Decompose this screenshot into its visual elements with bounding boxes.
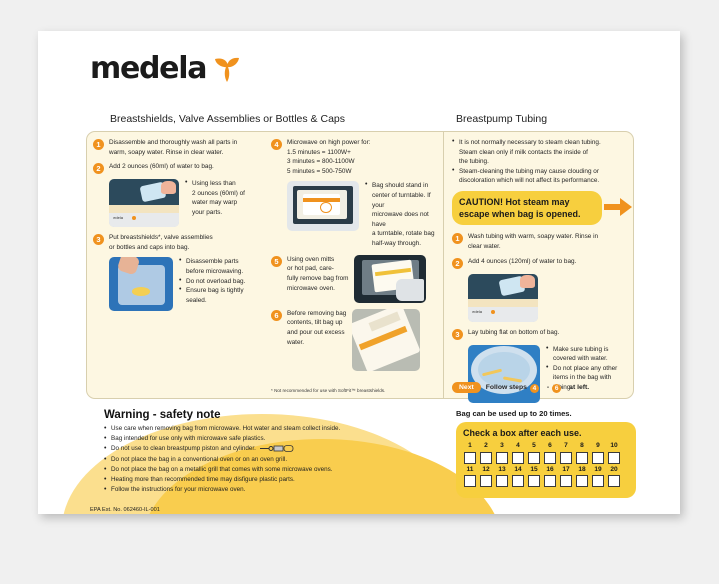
checkbox-7[interactable] [560,452,572,464]
step-6-media: 6 Before removing bag contents, tilt bag… [271,309,439,371]
warning-item: Use care when removing bag from microwav… [104,424,434,434]
checkbox-label: 12 [479,467,493,474]
checkbox-cell-20[interactable]: 20 [607,467,621,488]
step-5-media: 5 Using oven mitts or hot pad, care- ful… [271,255,439,303]
warning-section: Warning - safety note Use care when remo… [104,409,434,495]
bullet: Do not overload bag. [179,277,245,287]
warning-list: Use care when removing bag from microwav… [104,424,434,495]
checkbox-label: 15 [527,467,541,474]
checkbox-cell-18[interactable]: 18 [575,467,589,488]
step-6-text: Before removing bag contents, tilt bag u… [287,309,346,371]
warning-item: Heating more than recommended time may d… [104,475,434,485]
step-3-bullets: Disassemble parts before microwaving. Do… [179,257,245,311]
step-4-media: Bag should stand in center of turntable.… [287,181,439,248]
tubing-step-number-2: 2 [452,258,463,269]
checkbox-20[interactable] [608,475,620,487]
next-step-to: 6 [552,384,561,393]
checkbox-label: 2 [479,443,493,450]
epa-registration-text: EPA Est. No. 062460-IL-001 [90,507,160,513]
checkbox-label: 17 [559,467,573,474]
checkbox-14[interactable] [512,475,524,487]
step-2-media: edela Using less than 2 ounces (60ml) of… [109,179,261,227]
checkbox-cell-9[interactable]: 9 [591,443,605,464]
bullet: Using less than 2 ounces (60ml) of water… [185,179,245,217]
instructions-panel: 1 Disassemble and thoroughly wash all pa… [86,131,634,399]
parts-in-bag-photo [109,257,173,311]
brand-logo: medela [90,51,240,86]
warning-title: Warning - safety note [104,409,434,421]
step-3: 3 Put breastshields*, valve assemblies o… [93,233,261,252]
next-step-from: 4 [530,384,539,393]
checkbox-cell-14[interactable]: 14 [511,467,525,488]
removing-bag-with-mitt-photo [354,255,426,303]
step-2-bullets: Using less than 2 ounces (60ml) of water… [185,179,245,227]
checkbox-3[interactable] [496,452,508,464]
tubing-in-bag-photo [468,345,540,403]
warning-item: Follow the instructions for your microwa… [104,485,434,495]
checkbox-label: 5 [527,443,541,450]
microwave-with-bag-photo [287,181,359,231]
next-steps-row: Next Follow steps 4 - 6 at left. [452,382,589,393]
tubing-step-1-text: Wash tubing with warm, soapy water. Rins… [468,232,598,251]
checkbox-label: 10 [607,443,621,450]
checkbox-cell-10[interactable]: 10 [607,443,621,464]
warning-item: Do not use to clean breastpump piston an… [104,444,434,454]
water-pouring-into-bag-photo: edela [109,179,179,227]
step-4: 4 Microwave on high power for: 1.5 minut… [271,138,439,176]
checkbox-label: 6 [543,443,557,450]
step-number-5: 5 [271,256,282,267]
usage-tracker-section: Bag can be used up to 20 times. Check a … [456,409,636,498]
checkbox-instruction: Check a box after each use. [463,428,629,438]
step-number-2: 2 [93,163,104,174]
tubing-step-3-media: Make sure tubing is covered with water. … [468,345,626,403]
warning-item: Bag intended for use only with microwave… [104,434,434,444]
steps-column-1: 1 Disassemble and thoroughly wash all pa… [87,132,265,398]
next-pill: Next [452,382,481,393]
checkbox-card: Check a box after each use. 12345678910 … [456,422,636,498]
step-number-1: 1 [93,139,104,150]
tubing-step-3: 3 Lay tubing flat on bottom of bag. [452,328,626,340]
warning-item: Do not place the bag in a conventional o… [104,455,434,465]
step-number-6: 6 [271,310,282,321]
checkbox-cell-16[interactable]: 16 [543,467,557,488]
step-3-text: Put breastshields*, valve assemblies or … [109,233,213,252]
tubing-step-3-bullets: Make sure tubing is covered with water. … [546,345,617,403]
checkbox-label: 19 [591,467,605,474]
tubing-step-1: 1 Wash tubing with warm, soapy water. Ri… [452,232,626,251]
pouring-excess-water-photo [352,309,420,371]
step-6: 6 Before removing bag contents, tilt bag… [271,309,346,371]
water-pouring-into-bag-photo-2: edela [468,274,538,322]
step-5: 5 Using oven mitts or hot pad, care- ful… [271,255,348,303]
step-number-4: 4 [271,139,282,150]
steps-column-2: 4 Microwave on high power for: 1.5 minut… [265,132,443,398]
checkbox-6[interactable] [544,452,556,464]
bullet: Disassemble parts before microwaving. [179,257,245,276]
tubing-step-number-3: 3 [452,329,463,340]
checkbox-15[interactable] [528,475,540,487]
checkbox-cell-3[interactable]: 3 [495,443,509,464]
tubing-step-2-text: Add 4 ounces (120ml) of water to bag. [468,257,576,269]
checkbox-cell-2[interactable]: 2 [479,443,493,464]
column-header-right: Breastpump Tubing [456,113,547,125]
tubing-step-2: 2 Add 4 ounces (120ml) of water to bag. [452,257,626,269]
bullet: Bag should stand in center of turntable.… [365,181,439,248]
checkbox-label: 7 [559,443,573,450]
panel-breastshields: 1 Disassemble and thoroughly wash all pa… [87,132,443,398]
checkbox-label: 20 [607,467,621,474]
brand-name: medela [90,51,206,86]
tubing-step-number-1: 1 [452,233,463,244]
checkbox-4[interactable] [512,452,524,464]
piston-cylinder-icon [260,445,294,452]
step-1: 1 Disassemble and thoroughly wash all pa… [93,138,261,157]
checkbox-13[interactable] [496,475,508,487]
checkbox-1[interactable] [464,452,476,464]
checkbox-12[interactable] [480,475,492,487]
panel-tubing: It is not normally necessary to steam cl… [443,132,633,398]
checkbox-label: 8 [575,443,589,450]
bullet: Make sure tubing is covered with water. [546,345,617,364]
checkbox-cell-1[interactable]: 1 [463,443,477,464]
footnote: * Not recommended for use with SoftFit™ … [271,388,385,393]
right-arrow-icon [604,198,632,216]
checkbox-cell-5[interactable]: 5 [527,443,541,464]
checkbox-cell-7[interactable]: 7 [559,443,573,464]
step-4-bullets: Bag should stand in center of turntable.… [365,181,439,248]
checkbox-row-1: 12345678910 [463,443,629,464]
checkbox-cell-11[interactable]: 11 [463,467,477,488]
checkbox-5[interactable] [528,452,540,464]
step-2: 2 Add 2 ounces (60ml) of water to bag. [93,162,261,174]
checkbox-cell-19[interactable]: 19 [591,467,605,488]
tulip-logo-icon [214,55,240,83]
tubing-step-2-media: edela [468,274,626,322]
step-5-text: Using oven mitts or hot pad, care- fully… [287,255,348,303]
checkbox-label: 3 [495,443,509,450]
checkbox-label: 13 [495,467,509,474]
checkbox-8[interactable] [576,452,588,464]
checkbox-16[interactable] [544,475,556,487]
checkbox-cell-12[interactable]: 12 [479,467,493,488]
checkbox-cell-4[interactable]: 4 [511,443,525,464]
checkbox-row-2: 11121314151617181920 [463,467,629,488]
checkbox-label: 16 [543,467,557,474]
checkbox-cell-15[interactable]: 15 [527,467,541,488]
step-1-text: Disassemble and thoroughly wash all part… [109,138,237,157]
instruction-sheet-page: medela Breastshields, Valve Assemblies o… [38,31,680,514]
caution-callout: CAUTION! Hot steam may escape when bag i… [452,191,626,225]
bullet: Ensure bag is tightly sealed. [179,286,245,305]
checkbox-label: 18 [575,467,589,474]
checkbox-2[interactable] [480,452,492,464]
column-header-left: Breastshields, Valve Assemblies or Bottl… [110,113,345,125]
warning-item: Do not place the bag on a metallic grill… [104,465,434,475]
checkbox-11[interactable] [464,475,476,487]
checkbox-cell-17[interactable]: 17 [559,467,573,488]
checkbox-cell-13[interactable]: 13 [495,467,509,488]
step-number-3: 3 [93,234,104,245]
tubing-notes: It is not normally necessary to steam cl… [452,138,626,186]
usage-title: Bag can be used up to 20 times. [456,409,636,418]
caution-text: CAUTION! Hot steam may escape when bag i… [452,191,602,225]
checkbox-10[interactable] [608,452,620,464]
checkbox-label: 4 [511,443,525,450]
step-3-media: Disassemble parts before microwaving. Do… [109,257,261,311]
bullet: It is not normally necessary to steam cl… [452,138,626,167]
checkbox-cell-8[interactable]: 8 [575,443,589,464]
step-4-text: Microwave on high power for: 1.5 minutes… [287,138,370,176]
checkbox-label: 9 [591,443,605,450]
step-2-text: Add 2 ounces (60ml) of water to bag. [109,162,214,174]
checkbox-17[interactable] [560,475,572,487]
checkbox-9[interactable] [592,452,604,464]
checkbox-label: 14 [511,467,525,474]
bullet: Steam-cleaning the tubing may cause clou… [452,167,626,186]
checkbox-label: 1 [463,443,477,450]
next-text: Follow steps 4 - 6 at left. [486,383,589,393]
tubing-step-3-text: Lay tubing flat on bottom of bag. [468,328,559,340]
checkbox-label: 11 [463,467,477,474]
checkbox-18[interactable] [576,475,588,487]
checkbox-cell-6[interactable]: 6 [543,443,557,464]
checkbox-19[interactable] [592,475,604,487]
